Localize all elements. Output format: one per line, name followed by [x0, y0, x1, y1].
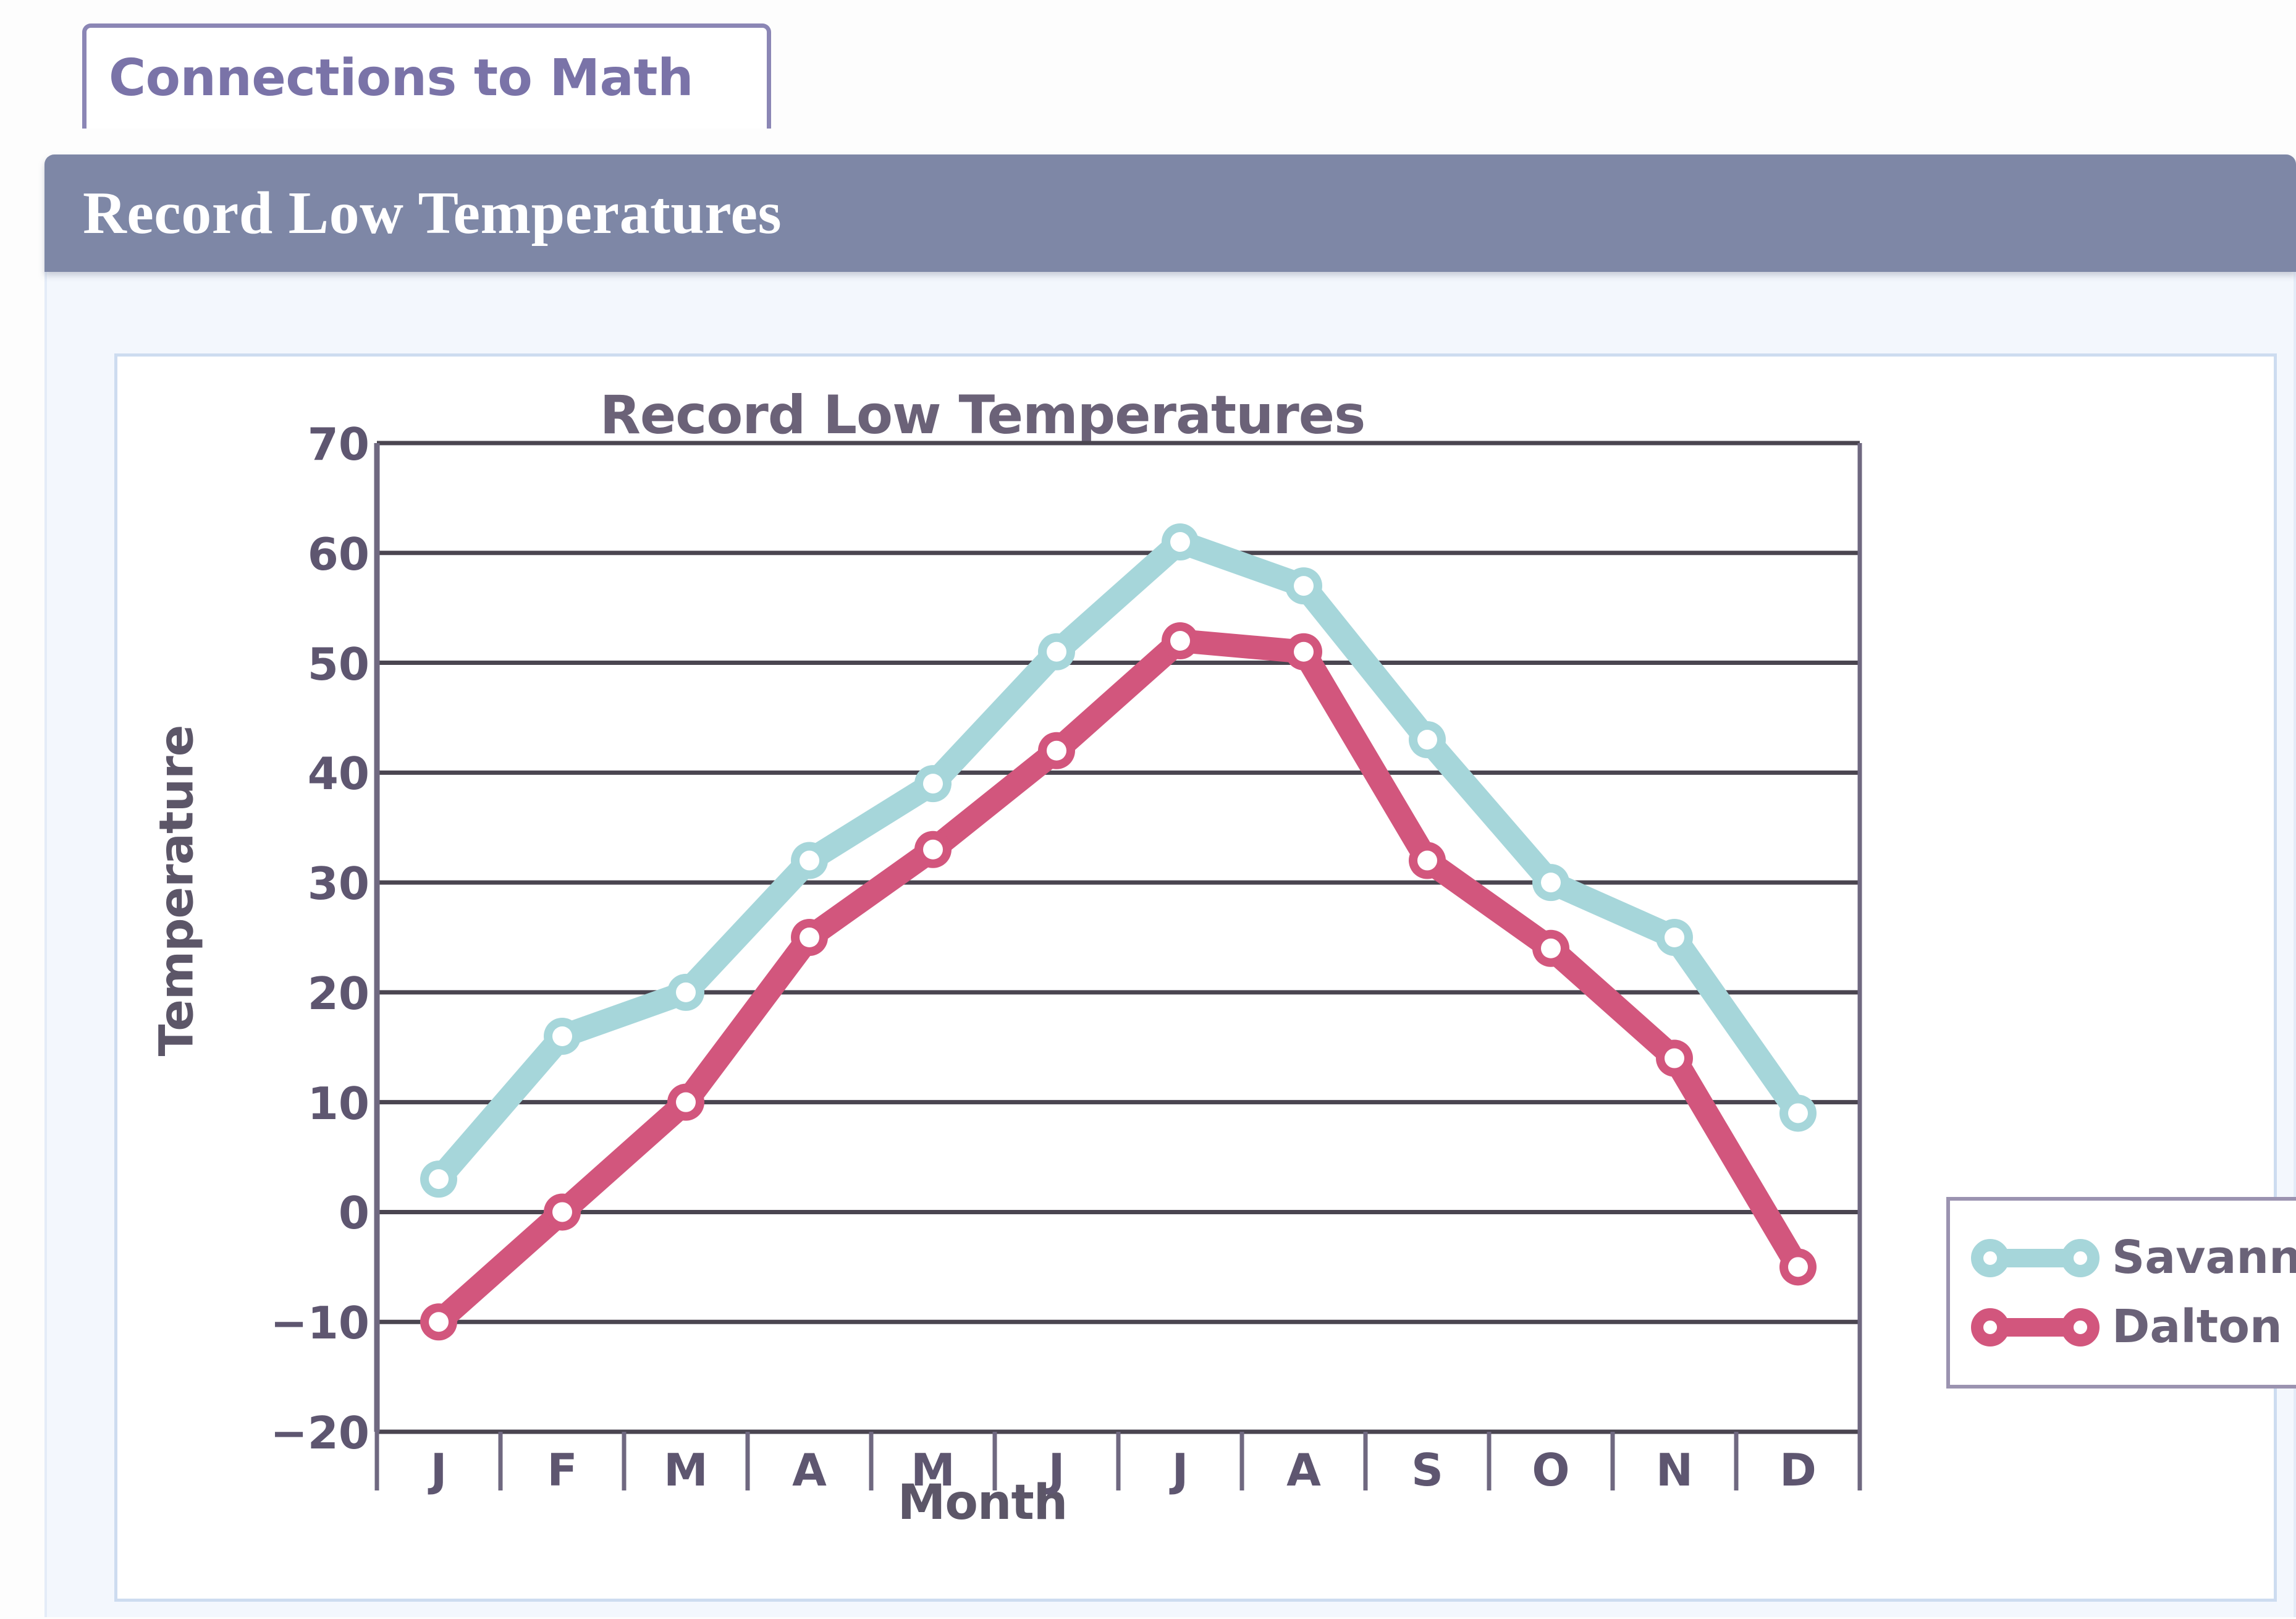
page-title: Record Low Temperatures [83, 179, 782, 248]
y-tick-label: 40 [209, 748, 369, 800]
plot-area: 706050403020100−10−20 JFMAMJJASOND [377, 443, 1860, 1432]
x-tick-label-3: A [763, 1444, 856, 1496]
y-axis-label: Temperature [149, 656, 204, 1126]
y-tick-label: 50 [209, 638, 369, 690]
legend-item-savannah[interactable]: Savannah [1971, 1223, 2296, 1292]
x-tick-label-8: S [1381, 1444, 1474, 1496]
x-tick-label-5: J [1010, 1444, 1103, 1496]
y-tick-label: 10 [209, 1078, 369, 1130]
y-tick-label: 60 [209, 528, 369, 580]
chart-title: Record Low Temperatures [303, 384, 1662, 446]
y-tick-label: 30 [209, 858, 369, 910]
legend-item-dalton[interactable]: Dalton [1971, 1292, 2296, 1361]
x-tick-label-9: O [1505, 1444, 1597, 1496]
legend-marker-icon [1971, 1308, 2009, 1346]
legend-swatch-savannah [1971, 1235, 2101, 1280]
scanned-page: Connections to Math Record Low Temperatu… [0, 0, 2296, 1619]
figure-card: Record Low Temperatures Temperature Mont… [114, 353, 2277, 1602]
tab-label: Connections to Math [109, 49, 693, 108]
legend-label-savannah: Savannah [2112, 1231, 2296, 1284]
chart-legend: Savannah Dalton [1946, 1197, 2296, 1389]
y-tick-label: −20 [209, 1407, 369, 1459]
plot-svg [377, 443, 1860, 1432]
legend-marker-icon [2061, 1239, 2100, 1277]
section-header-band: Record Low Temperatures [44, 154, 2296, 272]
y-tick-label: 70 [209, 418, 369, 470]
x-tick-label-2: M [639, 1444, 732, 1496]
legend-swatch-dalton [1971, 1304, 2101, 1349]
x-tick-label-6: J [1134, 1444, 1226, 1496]
x-tick-label-1: F [516, 1444, 609, 1496]
y-tick-label: 0 [209, 1187, 369, 1239]
legend-marker-icon [2061, 1308, 2100, 1346]
x-tick-label-11: D [1752, 1444, 1844, 1496]
section-tab-connections-to-math[interactable]: Connections to Math [82, 23, 771, 129]
x-tick-label-10: N [1628, 1444, 1721, 1496]
x-tick-label-7: A [1257, 1444, 1350, 1496]
line-chart: Record Low Temperatures Temperature Mont… [117, 357, 2274, 1599]
x-tick-label-0: J [392, 1444, 485, 1496]
legend-label-dalton: Dalton [2112, 1300, 2282, 1353]
y-tick-label: −10 [209, 1297, 369, 1349]
y-tick-label: 20 [209, 968, 369, 1020]
x-tick-label-4: M [887, 1444, 979, 1496]
legend-marker-icon [1971, 1239, 2009, 1277]
